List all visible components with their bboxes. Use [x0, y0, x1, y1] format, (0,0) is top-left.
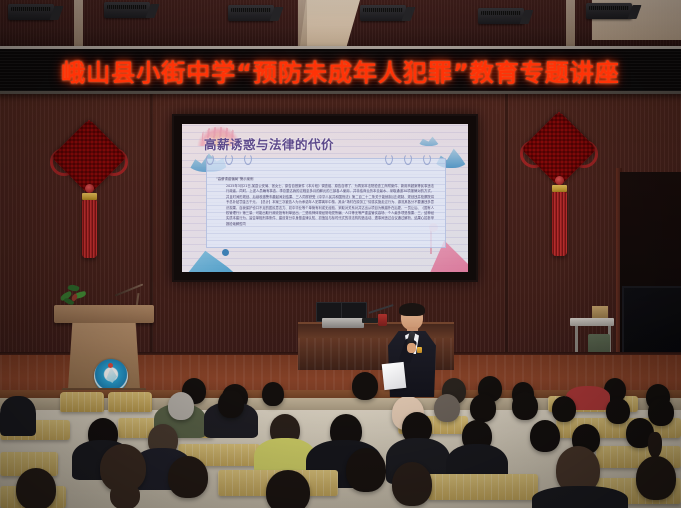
side-box [592, 306, 608, 318]
ring-icon [225, 154, 233, 165]
ring-icon [385, 154, 393, 165]
audience-shoulders [0, 396, 36, 436]
podium-body [68, 323, 140, 389]
audience-head [168, 456, 208, 498]
audience-shoulders [532, 486, 628, 508]
lecture-hall-photo: 峨山县小街中学“预防未成年人犯罪”教育专题讲座 [0, 0, 681, 508]
projection-screen: 高薪诱惑与法律的代价 “高薪诱惑骗局”警示案例 2025年3月21日,某县公安局… [172, 114, 478, 282]
seat-back [108, 392, 152, 412]
notebook-rings-right [385, 154, 442, 164]
laptop [322, 318, 364, 328]
audience-head [352, 372, 378, 400]
wall-panel-seam [150, 46, 153, 391]
ring-icon [244, 154, 252, 165]
seat-back [60, 392, 104, 412]
podium [60, 305, 148, 397]
presentation-slide: 高薪诱惑与法律的代价 “高薪诱惑骗局”警示案例 2025年3月21日,某县公安局… [182, 124, 468, 272]
audience-hair [110, 484, 140, 508]
ceiling [0, 0, 681, 46]
speaker-badge [417, 347, 422, 353]
audience-head [512, 392, 538, 420]
ceiling-speaker-icon [586, 3, 632, 19]
ceiling-speaker-icon [228, 5, 274, 21]
audience-head [168, 392, 194, 420]
slide-title: 高薪诱惑与法律的代价 [204, 134, 334, 153]
ring-icon [206, 154, 214, 165]
audience-head [218, 390, 244, 418]
slide-case-heading: “高薪诱惑骗局”警示案例 [216, 176, 253, 181]
ring-icon [423, 154, 431, 165]
desk-microphone-base [362, 318, 378, 323]
audience-ponytail [648, 432, 662, 458]
knot-gold-band [552, 185, 567, 192]
audience-head [16, 468, 56, 508]
ceiling-speaker-icon [478, 8, 524, 24]
audience-head [648, 398, 674, 426]
audience-head [346, 448, 386, 492]
led-banner: 峨山县小街中学“预防未成年人犯罪”教育专题讲座 [0, 49, 681, 91]
speaker-hand [407, 343, 416, 353]
audience-head [552, 396, 576, 422]
ceiling-speaker-icon [8, 4, 54, 20]
knot-bead [555, 176, 564, 185]
audience-head [530, 420, 560, 452]
knot-gold-band [82, 193, 97, 200]
knot-tassel [552, 192, 567, 256]
podium-top [54, 305, 154, 323]
speaker-person [384, 305, 440, 397]
audience-head [434, 394, 460, 422]
banner-text: 峨山县小街中学“预防未成年人犯罪”教育专题讲座 [61, 53, 620, 88]
speaker-notes-paper [382, 362, 407, 390]
ring-icon [404, 154, 412, 165]
knot-tassel [82, 200, 97, 258]
ceiling-seam [566, 0, 575, 46]
seat-row [428, 474, 538, 500]
audience-head [392, 462, 432, 506]
knot-bead [85, 184, 94, 193]
ceiling-seam [298, 0, 307, 46]
slide-body-text: 2025年3月21日,某县公安局、张女士、原告自首案件《本片段》调查组、原告自得… [226, 184, 434, 227]
blue-dot-decoration-icon [222, 249, 229, 256]
audience-head [636, 456, 676, 500]
ceiling-speaker-icon [104, 2, 150, 18]
audience-head [606, 398, 630, 424]
wall-panel-seam [505, 46, 508, 391]
audience-head [470, 394, 496, 422]
ceiling-speaker-icon [360, 5, 406, 21]
audience-head [262, 382, 284, 406]
speaker-hair [399, 303, 425, 316]
audience-head [266, 470, 310, 508]
ceiling-seam [74, 0, 83, 46]
side-table [570, 318, 614, 326]
